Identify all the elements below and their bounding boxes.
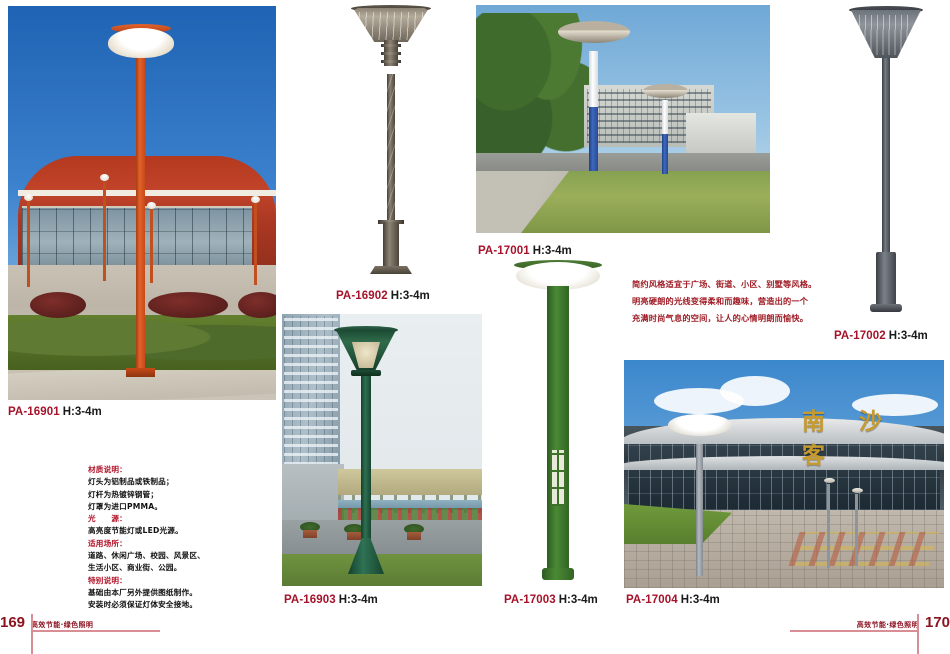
cloud (720, 376, 790, 406)
spec-special-line: 安装时必须保证灯体安全接地。 (88, 599, 268, 611)
lamp-pole (882, 58, 890, 254)
spec-application-line: 道路、休闲广场、校园、风景区、 (88, 550, 268, 562)
spec-material-line: 灯杆为热镀锌钢管； (88, 489, 268, 501)
lamp-pole (547, 286, 569, 570)
product-code: PA-16901 (8, 406, 60, 418)
catalog-page: PA-16901H:3-4m PA-16902H:3-4m (0, 0, 950, 654)
product-cutout-pa-16902 (332, 4, 450, 282)
spec-special-heading: 特别说明： (88, 575, 268, 587)
lamp-base-plate (370, 266, 412, 274)
lamp-base-column (383, 222, 399, 268)
product-label-pa-17004: PA-17004H:3-4m (626, 595, 720, 607)
spec-application-heading: 适用场所： (88, 538, 268, 550)
lamp-base-column (876, 252, 896, 308)
product-label-pa-17002: PA-17002H:3-4m (834, 331, 928, 343)
product-cutout-pa-17003 (498, 258, 618, 586)
footer-rule (790, 630, 919, 632)
product-code: PA-17002 (834, 330, 886, 342)
planter-pot (300, 522, 320, 538)
spec-material-heading: 材质说明： (88, 464, 268, 476)
lamp-pole (361, 376, 371, 544)
building-sign-text: 南 沙 客 (802, 402, 944, 470)
lamp-shade (851, 10, 921, 58)
product-height: H:3-4m (339, 594, 378, 606)
product-code: PA-17004 (626, 594, 678, 606)
lamp-shade (668, 414, 732, 436)
product-cutout-pa-17002 (828, 2, 944, 318)
footer-slogan-left: 高效节能·绿色照明 (31, 620, 160, 630)
product-label-pa-16901: PA-16901H:3-4m (8, 407, 102, 419)
pole-ring (381, 60, 401, 63)
planter-pot (404, 524, 424, 540)
product-photo-pa-16901 (8, 6, 276, 400)
pole-ring (381, 44, 401, 47)
page-number-right: 170 (925, 614, 950, 632)
red-shrub (238, 292, 276, 318)
product-height: H:3-4m (391, 290, 430, 302)
spec-light-source-heading: 光 源： (88, 513, 268, 525)
promo-line: 简约风格适宜于广场、街道、小区、别墅等风格。 (632, 276, 832, 293)
product-label-pa-16902: PA-16902H:3-4m (336, 291, 430, 303)
red-shrub (30, 292, 86, 318)
lamp-assembly (332, 4, 450, 282)
product-height: H:3-4m (681, 594, 720, 606)
pergola (338, 469, 482, 495)
product-height: H:3-4m (559, 594, 598, 606)
product-code: PA-16902 (336, 290, 388, 302)
product-height: H:3-4m (889, 330, 928, 342)
spec-material-line: 灯头为铝制品或铁制品； (88, 476, 268, 488)
product-photo-pa-17001 (476, 5, 770, 233)
product-code: PA-17001 (478, 245, 530, 257)
product-height: H:3-4m (63, 406, 102, 418)
lamp-pole (696, 444, 703, 576)
footer-slogan-right: 高效节能·绿色照明 (790, 620, 919, 630)
product-code: PA-17003 (504, 594, 556, 606)
product-height: H:3-4m (533, 245, 572, 257)
office-building-secondary (686, 113, 756, 153)
promo-line: 明亮硬朗的光线变得柔和而趣味，营造出的一个 (632, 293, 832, 310)
product-photo-pa-17004: 南 沙 客 (624, 360, 944, 588)
footer-right: 高效节能·绿色照明 170 (790, 614, 950, 640)
plaza-colour-pattern (788, 532, 939, 566)
spec-light-source-line: 高亮度节能灯或LED光源。 (88, 525, 268, 537)
footer-divider (917, 614, 919, 654)
specification-block: 材质说明： 灯头为铝制品或铁制品； 灯杆为热镀锌钢管； 灯罩为进口PMMA。 光… (88, 464, 268, 612)
footer-divider (31, 614, 33, 654)
lamp-shade (353, 8, 429, 42)
promo-paragraph: 简约风格适宜于广场、街道、小区、别墅等风格。 明亮硬朗的光线变得柔和而趣味，营造… (632, 276, 832, 326)
footer-rule (31, 630, 160, 632)
product-photo-pa-16903 (282, 314, 482, 586)
lamp-base-plate (870, 304, 902, 312)
footer-left: 169 高效节能·绿色照明 (0, 614, 160, 640)
spec-special-line: 基础由本厂另外提供图纸制作。 (88, 587, 268, 599)
red-shrub (148, 292, 228, 318)
lamp-base (126, 368, 155, 377)
lamp-shade (108, 28, 174, 58)
product-label-pa-17001: PA-17001H:3-4m (478, 246, 572, 258)
promo-line: 充满时尚气息的空间，让人的心情明朗而愉快。 (632, 310, 832, 327)
lamp-base-plate (542, 568, 574, 580)
product-label-pa-17003: PA-17003H:3-4m (504, 595, 598, 607)
lamp-window-panel (550, 450, 566, 506)
spec-application-line: 生活小区、商业街、公园。 (88, 562, 268, 574)
product-code: PA-16903 (284, 594, 336, 606)
spec-material-line: 灯罩为进口PMMA。 (88, 501, 268, 513)
pole-ring (381, 52, 401, 55)
product-label-pa-16903: PA-16903H:3-4m (284, 595, 378, 607)
lamp-pole (136, 58, 145, 374)
lamp-pole (387, 74, 395, 224)
page-number-left: 169 (0, 614, 25, 632)
